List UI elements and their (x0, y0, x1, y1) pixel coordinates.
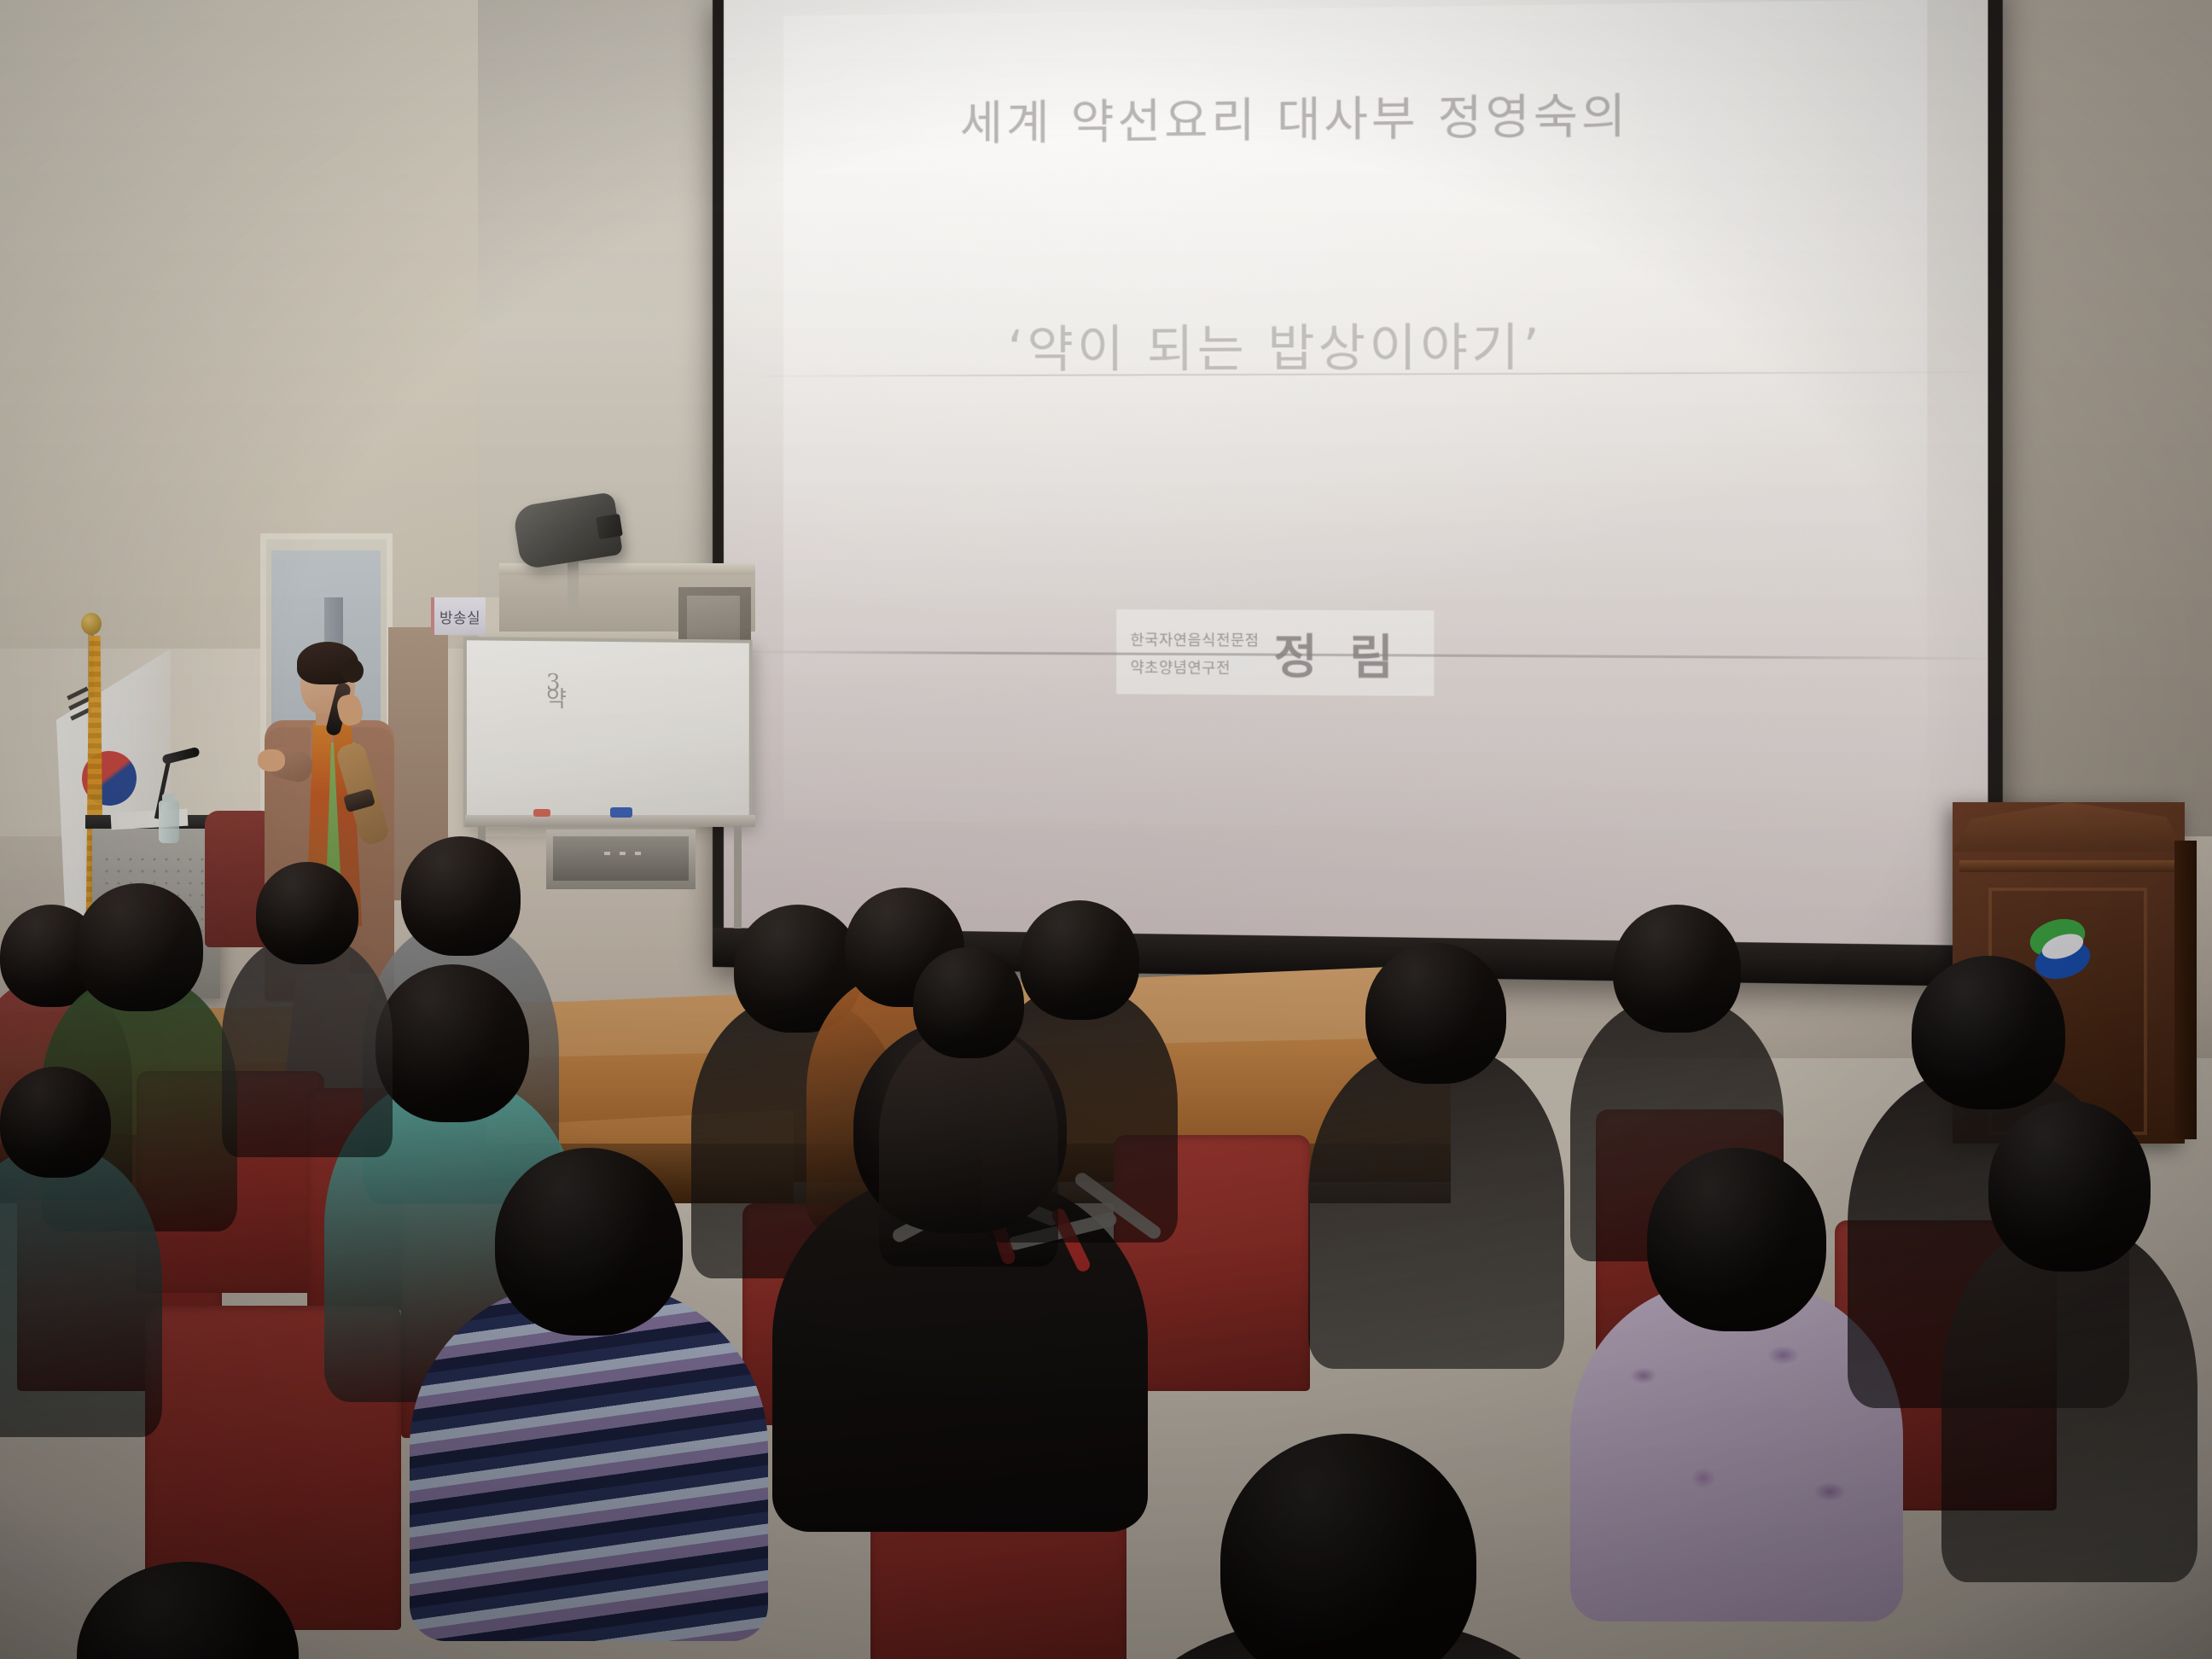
audience-layer (0, 0, 2212, 1659)
attendee-mint-jacket-head (375, 964, 529, 1122)
attendee-far-right-dark-head (1912, 956, 2065, 1109)
attendee-back-center-head (913, 947, 1024, 1058)
attendee-mid-left-back-torso (222, 935, 393, 1157)
attendee-green-sweater-head (75, 883, 203, 1011)
attendee-far-right-back-head (1988, 1101, 2151, 1272)
attendee-far-right-back-torso (1941, 1224, 2197, 1582)
attendee-striped-sweater-torso (410, 1283, 768, 1641)
attendee-teal-left-head (0, 1067, 111, 1178)
attendee-back-center-torso (879, 1027, 1058, 1266)
photo-scene: 세계 약선요리 대사부 정영숙의 ‘약이 되는 밥상이야기’ 한국자연음식전문점… (0, 0, 2212, 1659)
attendee-mid-left-back-head (256, 862, 358, 964)
attendee-right-back-head (1613, 905, 1741, 1033)
attendee-right-dark-coat-torso (1308, 1045, 1564, 1369)
attendee-bottom-left-edge-head (77, 1562, 299, 1659)
attendee-right-dark-coat-head (1365, 943, 1506, 1084)
attendee-bottom-foreground-head (1220, 1434, 1476, 1659)
attendee-floral-jacket-head (1647, 1148, 1826, 1331)
attendee-grey-shirt-head (401, 836, 521, 956)
attendee-striped-sweater-head (495, 1148, 683, 1336)
attendee-mid-right-dark-head (1020, 900, 1139, 1020)
